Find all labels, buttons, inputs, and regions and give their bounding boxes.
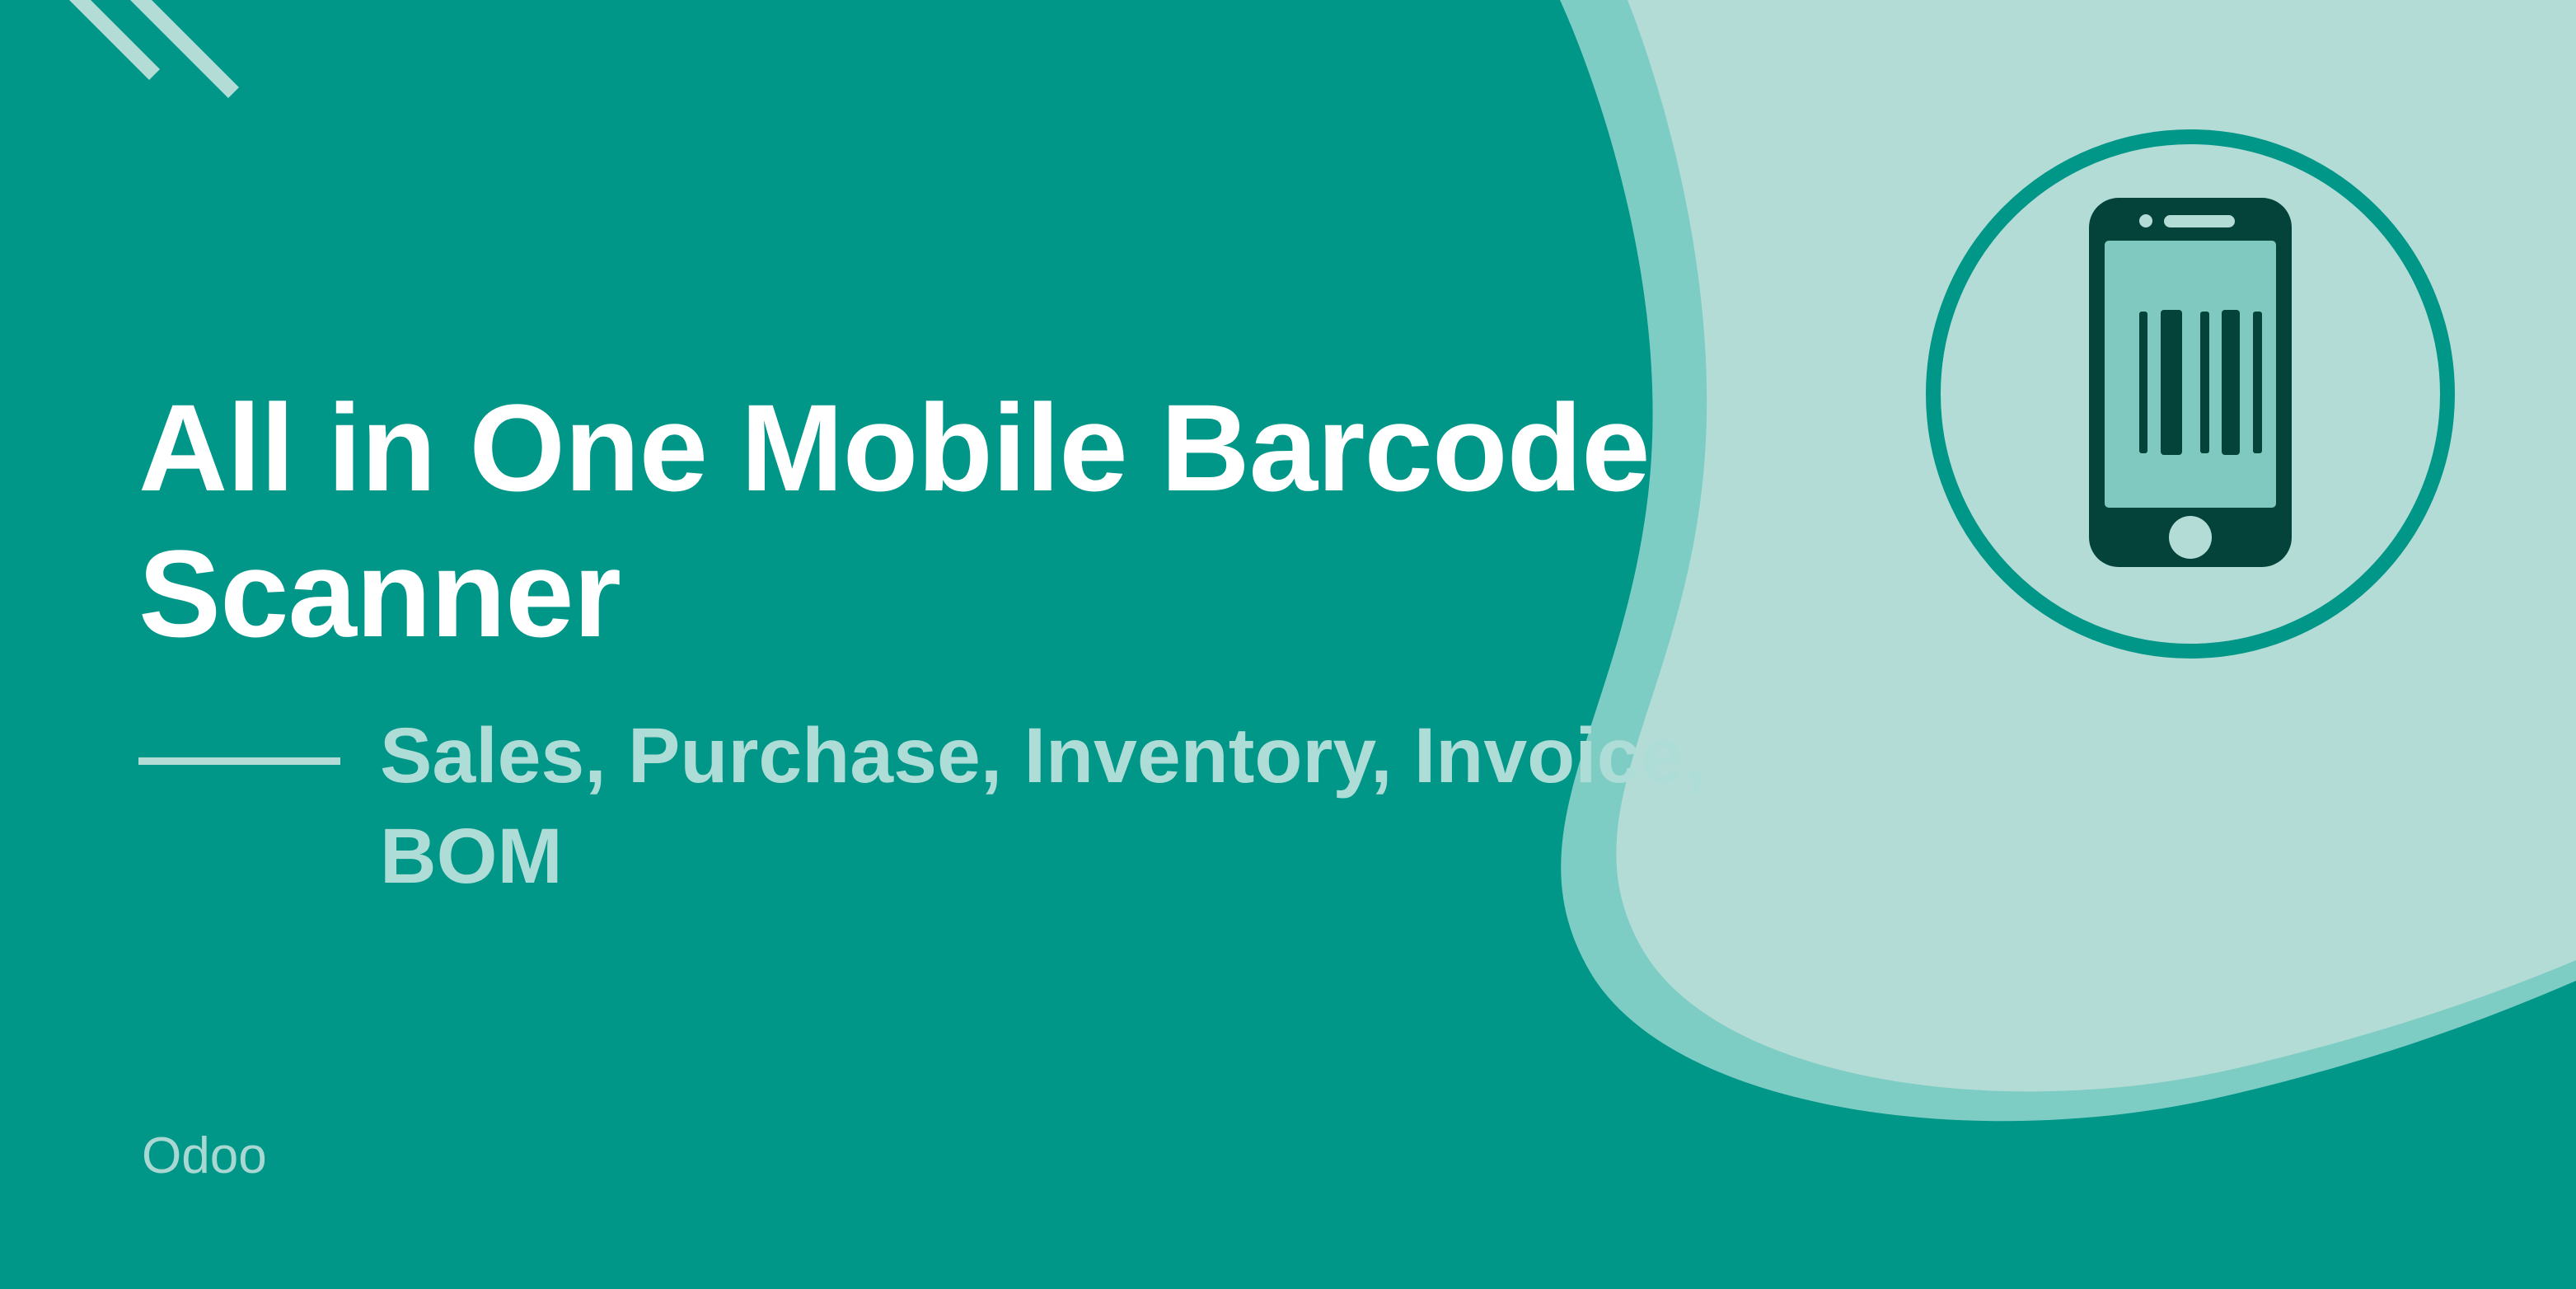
speaker-slot-icon [2164,215,2235,227]
stripe-long-icon [125,0,239,98]
subtitle-text: Sales, Purchase, Inventory, Invoice, BOM [380,706,1731,907]
subtitle-row: Sales, Purchase, Inventory, Invoice, BOM [138,706,1754,907]
camera-dot-icon [2139,214,2152,227]
home-button-icon [2169,516,2212,559]
brand-label: Odoo [142,1131,267,1182]
slide-canvas: All in One Mobile Barcode Scanner Sales,… [0,0,2576,1289]
slide-text-block: All in One Mobile Barcode Scanner Sales,… [138,375,1754,907]
subtitle-rule-decoration [138,757,340,765]
diagonal-stripes-decoration [0,0,346,181]
phone-screen-icon [2105,241,2276,508]
page-title: All in One Mobile Barcode Scanner [138,375,1754,667]
mobile-barcode-scanner-icon [1920,124,2464,668]
